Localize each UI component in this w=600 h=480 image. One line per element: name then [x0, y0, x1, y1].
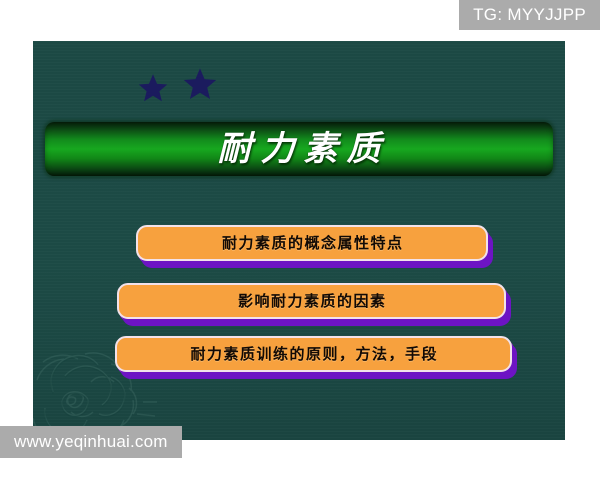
page-title: 耐力素质: [209, 132, 390, 166]
menu-button-concept-label: 耐力素质的概念属性特点: [220, 236, 403, 251]
menu-button-training[interactable]: 耐力素质训练的原则，方法，手段: [115, 336, 512, 372]
watermark-bottom-left-text: www.yeqinhuai.com: [14, 432, 168, 452]
menu-button-factors[interactable]: 影响耐力素质的因素: [117, 283, 506, 319]
watermark-top-right-text: TG: MYYJJPP: [473, 5, 586, 25]
menu-button-concept[interactable]: 耐力素质的概念属性特点: [136, 225, 488, 261]
title-banner: 耐力素质: [45, 122, 553, 176]
menu-button-factors-label: 影响耐力素质的因素: [236, 294, 386, 309]
watermark-bottom-left: www.yeqinhuai.com: [0, 426, 182, 458]
slide-canvas: 耐力素质 耐力素质的概念属性特点 影响耐力素质的因素 耐力素质训练的原则，方法，…: [33, 41, 565, 440]
menu-button-training-label: 耐力素质训练的原则，方法，手段: [189, 347, 438, 362]
star-icon-left: [138, 73, 168, 103]
watermark-top-right: TG: MYYJJPP: [459, 0, 600, 30]
star-icon-right: [183, 67, 217, 101]
